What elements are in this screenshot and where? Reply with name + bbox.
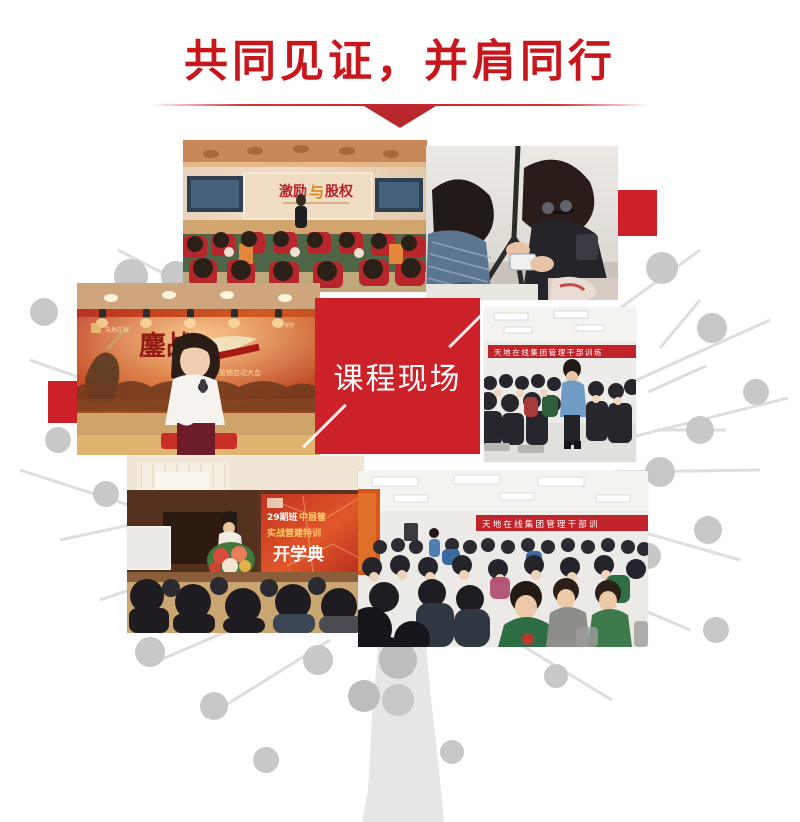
- photo-classroom-walking: 天地在线集团管理干部训练: [484, 307, 636, 462]
- photo-opening-ceremony: 29期班 中层管 实战营建特训 开学典: [127, 456, 364, 633]
- poster-title-block: 共同见证，并肩同行: [0, 34, 800, 89]
- svg-text:实战营建特训: 实战营建特训: [267, 527, 321, 539]
- photo-two-people-phone: [426, 146, 618, 300]
- svg-text:股权: 股权: [325, 183, 354, 200]
- photo-stage-speaker: 鏖战 年度营销启动大会 天地在线 九天 聚势: [77, 283, 320, 455]
- svg-text:九天 聚势: 九天 聚势: [273, 322, 295, 329]
- title-divider-triangle-icon: [364, 106, 436, 128]
- poster-canvas: 共同见证，并肩同行: [0, 0, 800, 822]
- svg-text:开学典: 开学典: [273, 544, 324, 565]
- svg-text:天地在线集团管理干部训: 天地在线集团管理干部训: [482, 519, 600, 530]
- feature-card-label: 课程现场: [334, 354, 462, 398]
- svg-text:与: 与: [309, 183, 324, 201]
- svg-text:中层管: 中层管: [299, 511, 326, 523]
- photo-seminar-hall: 激励 与 股权: [183, 140, 427, 292]
- svg-text:29期班: 29期班: [267, 511, 298, 523]
- tree-trunk: [362, 620, 444, 822]
- svg-text:天地在线: 天地在线: [105, 326, 129, 334]
- svg-text:天地在线集团管理干部训练: 天地在线集团管理干部训练: [494, 347, 603, 357]
- accent-square-top-right: [613, 190, 657, 236]
- feature-card: 课程现场: [315, 298, 480, 454]
- photo-audience-large: 天地在线集团管理干部训: [358, 471, 648, 647]
- page-title: 共同见证，并肩同行: [0, 34, 800, 89]
- tree-trunk-knots: [348, 641, 417, 712]
